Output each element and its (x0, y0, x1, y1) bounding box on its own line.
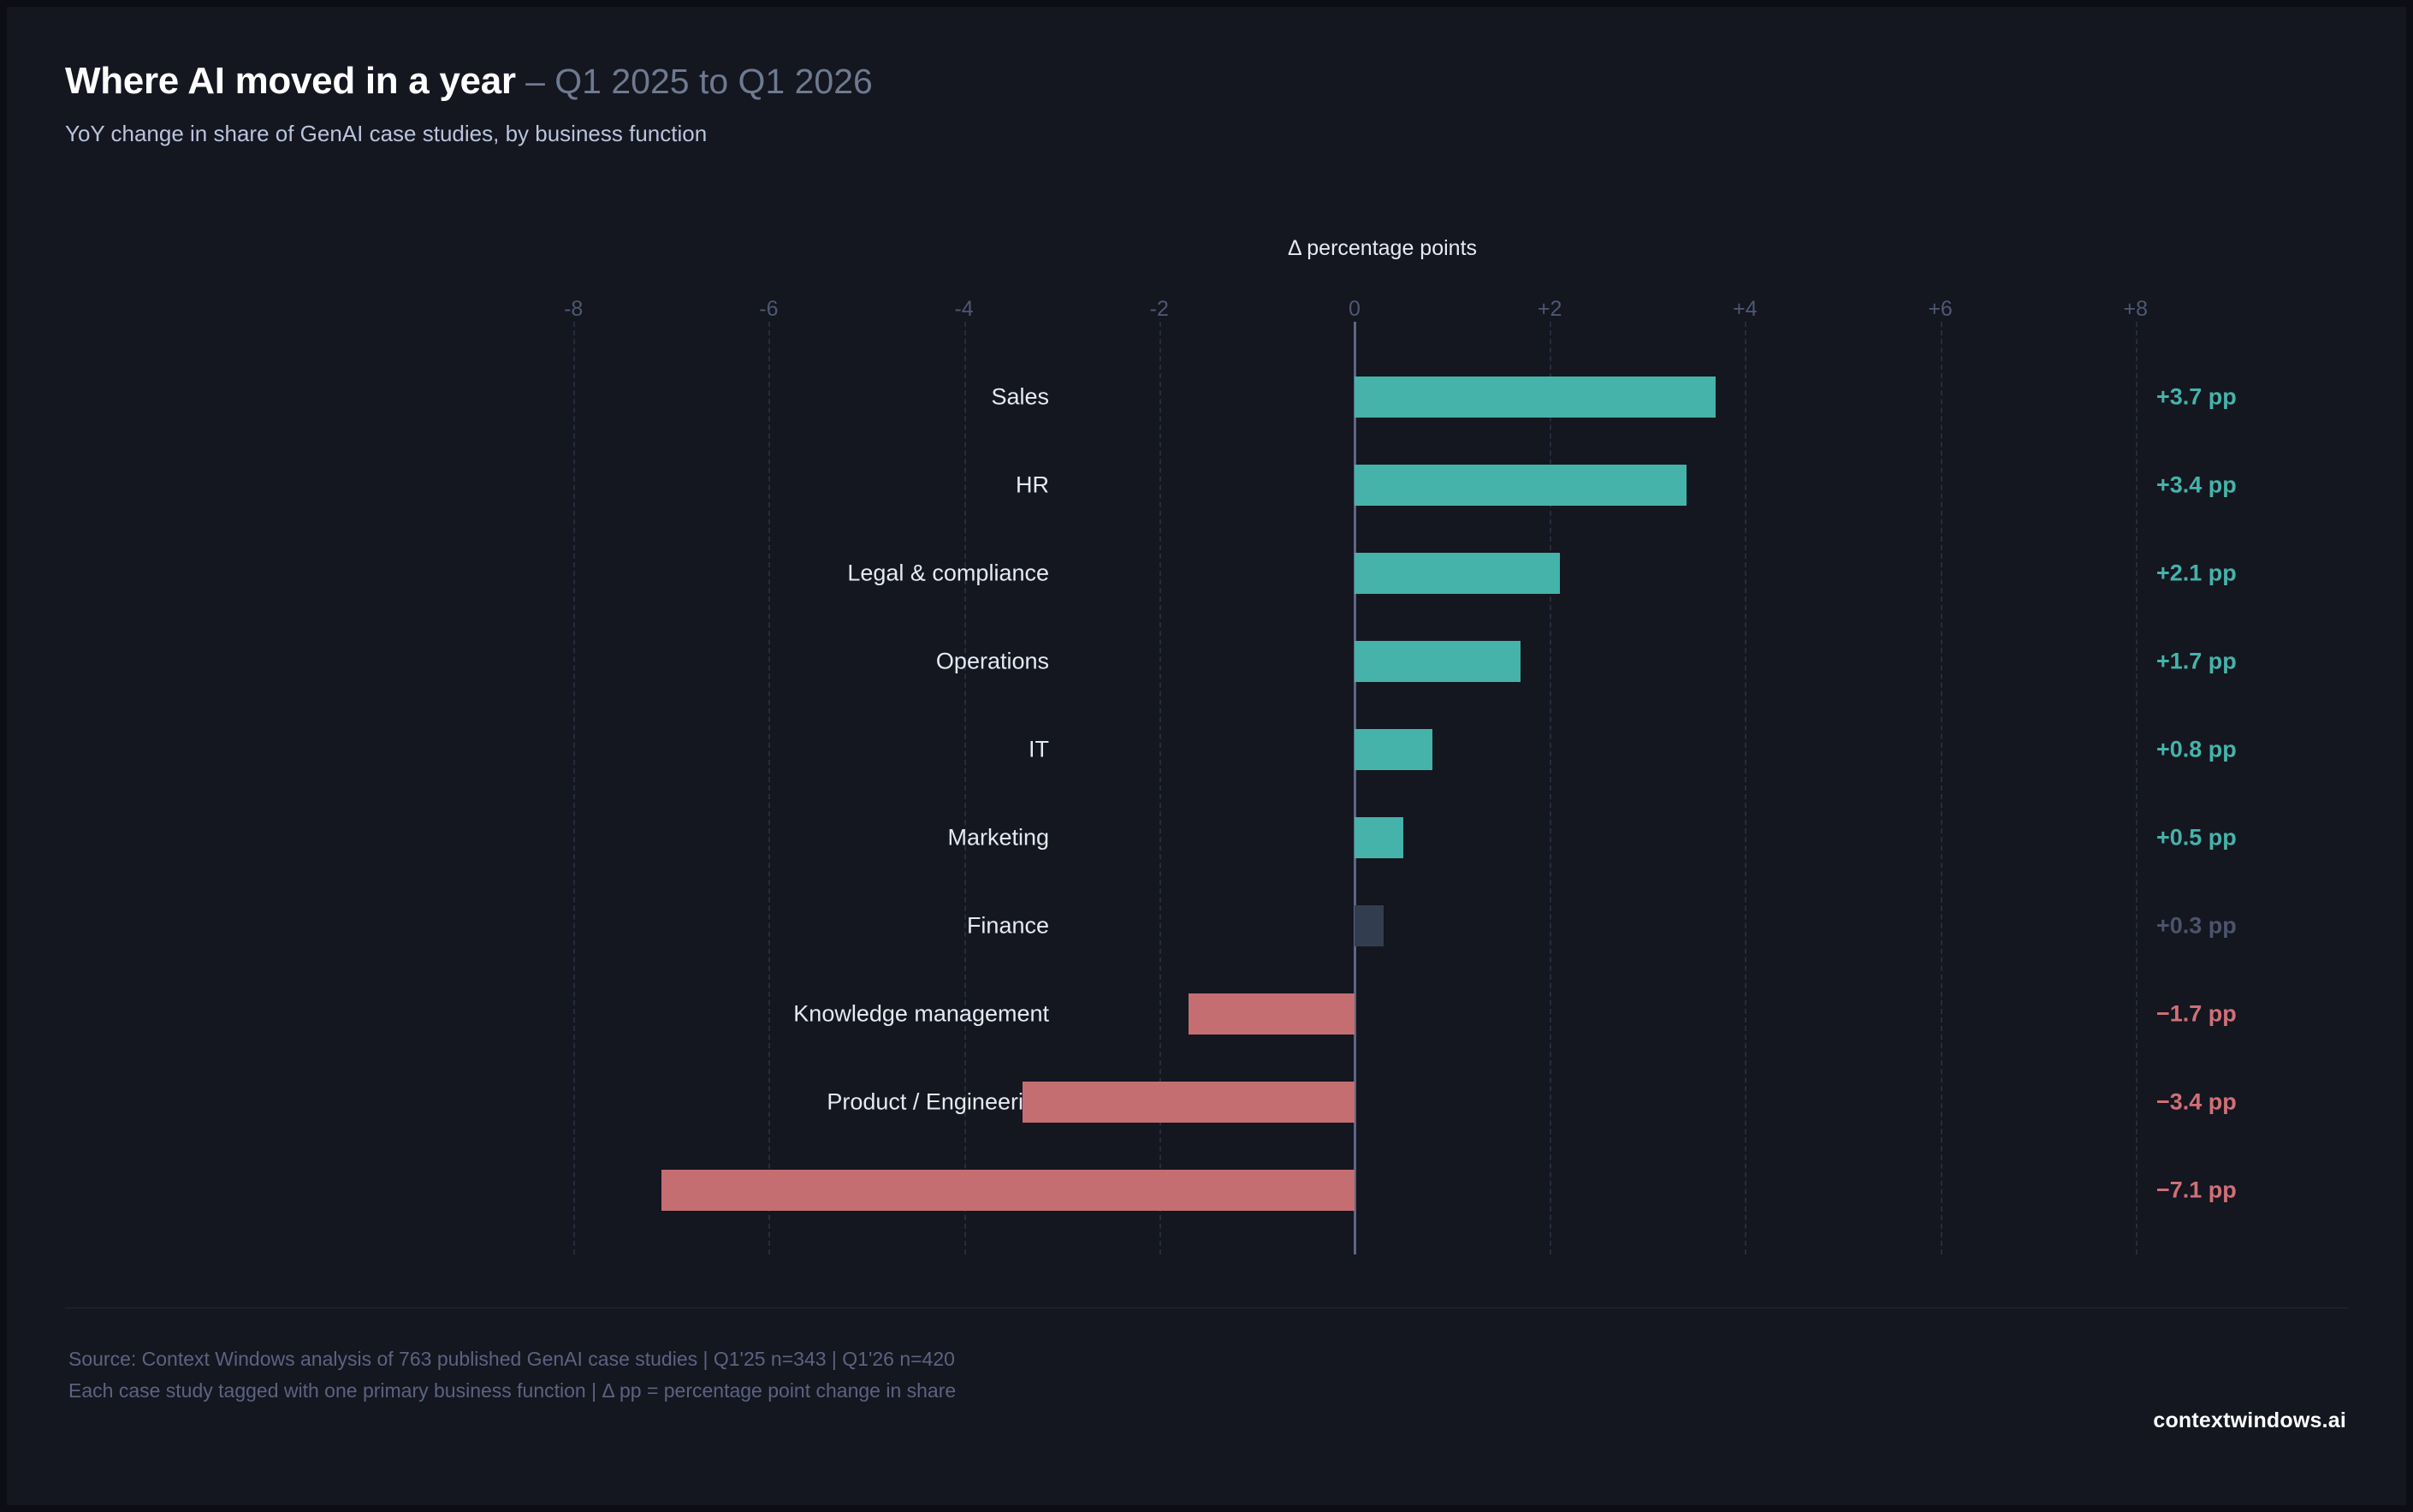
x-axis-title: Δ percentage points (1288, 236, 1477, 261)
value-label: −7.1 pp (2156, 1177, 2237, 1204)
category-label: HR (7, 472, 1049, 499)
category-label: Operations (7, 649, 1049, 675)
category-label: Marketing (7, 825, 1049, 851)
bar (661, 1170, 1355, 1211)
gridline (1745, 322, 1746, 1254)
value-label: +3.7 pp (2156, 384, 2237, 411)
category-label: IT (7, 737, 1049, 763)
category-label: Knowledge management (7, 1001, 1049, 1028)
bar (1023, 1082, 1355, 1123)
x-tick-label: -4 (954, 297, 973, 322)
bar (1189, 993, 1355, 1035)
footer-divider (65, 1307, 2348, 1308)
x-tick-label: +2 (1538, 297, 1562, 322)
bar (1355, 817, 1403, 858)
value-label: +3.4 pp (2156, 472, 2237, 499)
bar (1355, 729, 1432, 770)
category-label: Sales (7, 384, 1049, 411)
bar (1355, 465, 1687, 506)
value-label: +1.7 pp (2156, 649, 2237, 675)
brand-watermark: contextwindows.ai (2153, 1408, 2346, 1433)
x-tick-label: +6 (1928, 297, 1953, 322)
x-tick-label: +8 (2124, 297, 2149, 322)
footer-method-line: Each case study tagged with one primary … (68, 1375, 956, 1407)
category-label: Legal & compliance (7, 560, 1049, 587)
bar (1355, 377, 1716, 418)
gridline (1941, 322, 1942, 1254)
value-label: +0.8 pp (2156, 737, 2237, 763)
footer-notes: Source: Context Windows analysis of 763 … (68, 1343, 956, 1408)
x-tick-label: +4 (1733, 297, 1758, 322)
bar (1355, 641, 1521, 682)
value-label: +0.3 pp (2156, 913, 2237, 940)
category-label: Finance (7, 913, 1049, 940)
x-tick-label: -6 (759, 297, 778, 322)
value-label: +2.1 pp (2156, 560, 2237, 587)
gridline (1550, 322, 1551, 1254)
bar-chart-plot: Δ percentage points-8-6-4-20+2+4+6+8Sale… (7, 7, 2406, 1505)
value-label: +0.5 pp (2156, 825, 2237, 851)
x-tick-label: 0 (1349, 297, 1361, 322)
footer-source-line: Source: Context Windows analysis of 763 … (68, 1343, 956, 1375)
bar (1355, 905, 1384, 946)
x-tick-label: -8 (564, 297, 583, 322)
gridline (2136, 322, 2137, 1254)
x-tick-label: -2 (1150, 297, 1169, 322)
value-label: −1.7 pp (2156, 1001, 2237, 1028)
value-label: −3.4 pp (2156, 1089, 2237, 1116)
chart-canvas: Where AI moved in a year – Q1 2025 to Q1… (7, 7, 2406, 1505)
category-label: Product / Engineering (7, 1089, 1049, 1116)
bar (1355, 553, 1560, 594)
